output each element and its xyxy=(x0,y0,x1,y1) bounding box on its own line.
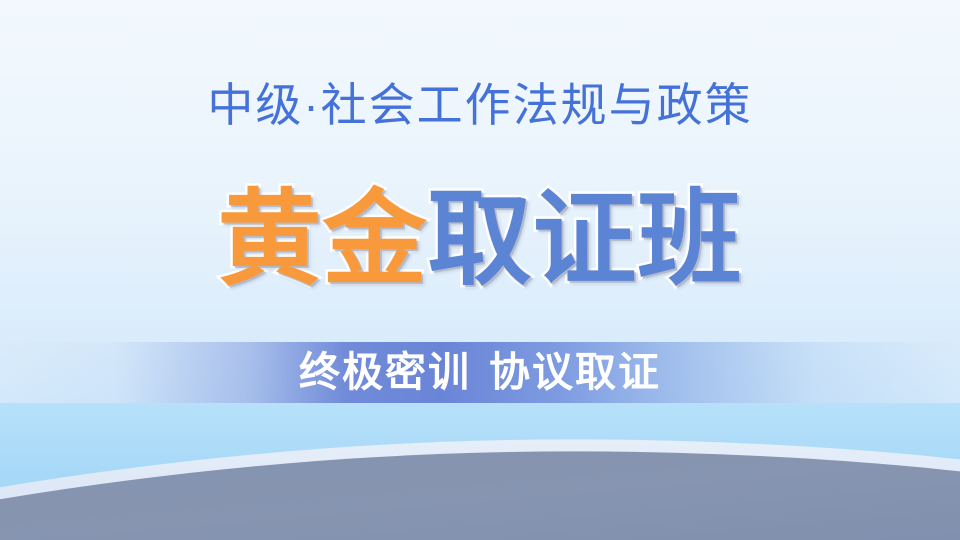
headline-gold-text: 黄金 xyxy=(217,178,427,302)
subtitle-part-one: 终极密训 xyxy=(299,349,471,395)
headline-blue-text: 取证班 xyxy=(428,178,743,302)
light-blue-arc xyxy=(0,403,960,540)
poster-headline: 黄金取证班 xyxy=(0,178,960,302)
course-subject-title: 中级·社会工作法规与政策 xyxy=(0,74,960,136)
gray-blue-base-arc xyxy=(0,451,960,540)
pale-highlight-arc xyxy=(0,439,960,540)
course-promo-poster: 中级·社会工作法规与政策 黄金取证班 终极密训协议取证 xyxy=(0,0,960,540)
subtitle-part-two: 协议取证 xyxy=(489,349,661,395)
subtitle-band: 终极密训协议取证 xyxy=(0,342,960,403)
